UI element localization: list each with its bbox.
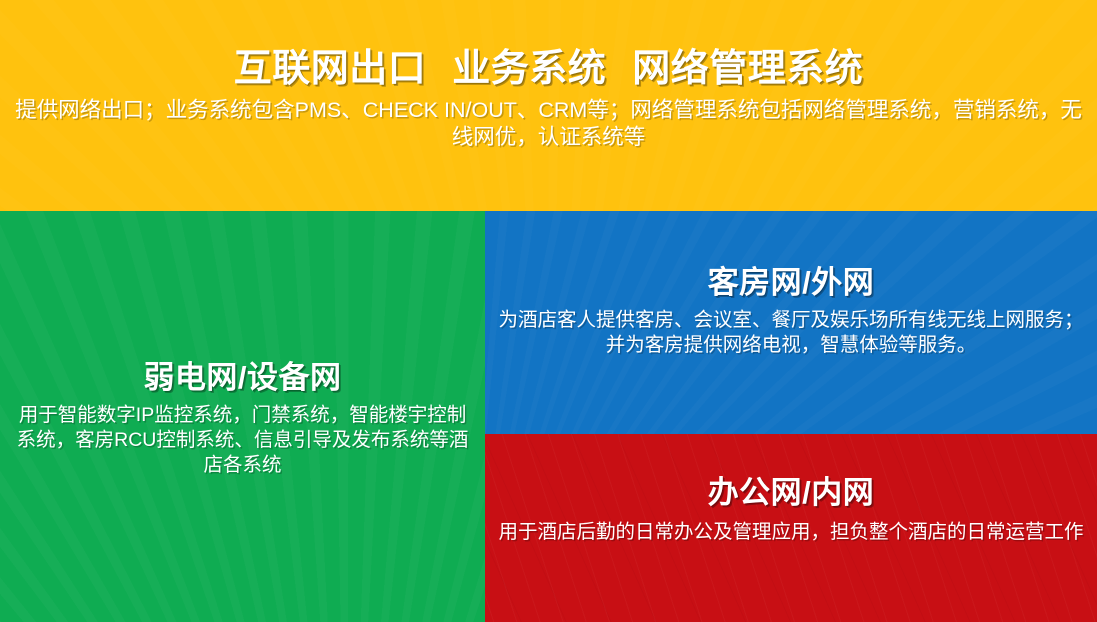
green-panel-description: 用于智能数字IP监控系统，门禁系统，智能楼宇控制系统，客房RCU控制系统、信息引… xyxy=(4,403,481,479)
panel-internet-exit-business-network-management: 互联网出口业务系统网络管理系统 提供网络出口；业务系统包含PMS、CHECK I… xyxy=(0,0,1097,211)
header-title-segment-network-management: 网络管理系统 xyxy=(632,48,863,90)
green-panel-title: 弱电网/设备网 xyxy=(4,361,481,396)
panel-weak-current-device-network: 弱电网/设备网 用于智能数字IP监控系统，门禁系统，智能楼宇控制系统，客房RCU… xyxy=(0,211,485,622)
blue-panel-title: 客房网/外网 xyxy=(489,266,1093,301)
red-panel-description: 用于酒店后勤的日常办公及管理应用，担负整个酒店的日常运营工作 xyxy=(489,520,1093,545)
red-panel-title: 办公网/内网 xyxy=(489,476,1093,511)
header-panel-title: 互联网出口业务系统网络管理系统 xyxy=(2,48,1095,91)
panel-guestroom-external-network: 客房网/外网 为酒店客人提供客房、会议室、餐厅及娱乐场所有线无线上网服务；并为客… xyxy=(485,211,1097,434)
panel-office-internal-network: 办公网/内网 用于酒店后勤的日常办公及管理应用，担负整个酒店的日常运营工作 xyxy=(485,434,1097,622)
header-panel-description: 提供网络出口；业务系统包含PMS、CHECK IN/OUT、CRM等；网络管理系… xyxy=(2,97,1095,153)
blue-panel-description: 为酒店客人提供客房、会议室、餐厅及娱乐场所有线无线上网服务；并为客房提供网络电视… xyxy=(489,308,1093,359)
header-title-segment-business-system: 业务系统 xyxy=(452,48,606,90)
network-architecture-slide: 互联网出口业务系统网络管理系统 提供网络出口；业务系统包含PMS、CHECK I… xyxy=(0,0,1097,622)
header-title-segment-internet-exit: 互联网出口 xyxy=(234,48,427,90)
